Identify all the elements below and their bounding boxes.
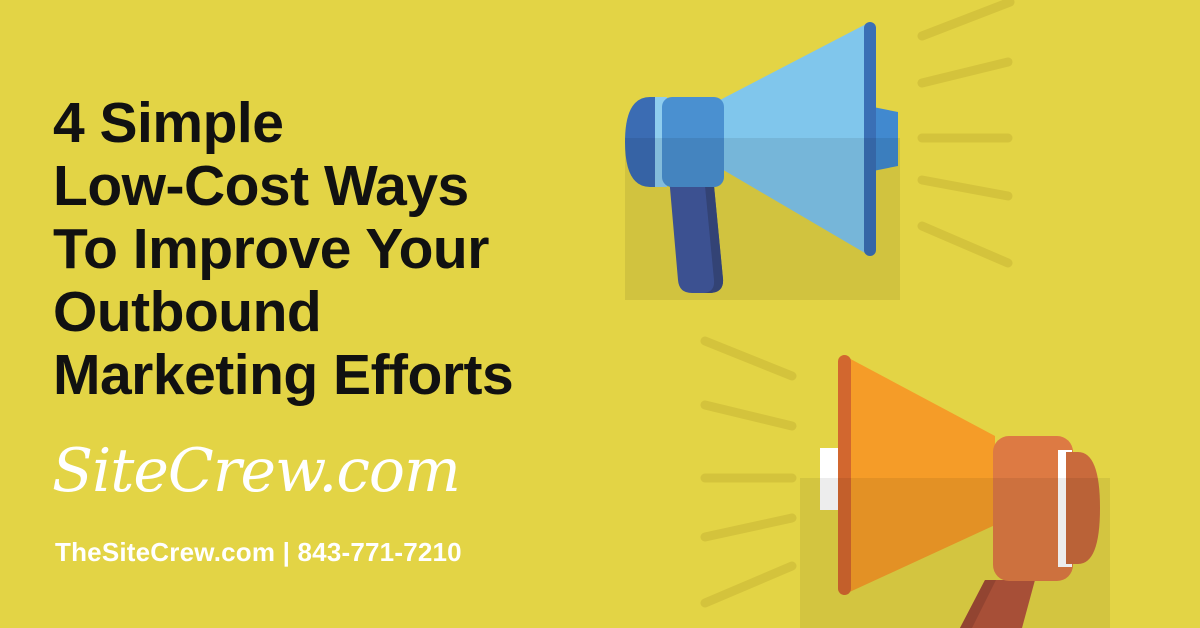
megaphone-body <box>993 436 1073 581</box>
sound-wave-line <box>922 2 1010 36</box>
page-title: 4 Simple Low-Cost Ways To Improve Your O… <box>53 92 653 407</box>
megaphone-rim-block <box>868 106 898 172</box>
marketing-banner: 4 Simple Low-Cost Ways To Improve Your O… <box>0 0 1200 628</box>
sound-wave-line <box>922 180 1008 196</box>
sound-wave-line <box>922 62 1008 83</box>
megaphone-handle <box>960 580 1035 628</box>
megaphone-back-cap <box>1066 452 1100 564</box>
megaphone-shadow-overlay <box>800 478 1110 628</box>
megaphone-rim-bar <box>838 355 851 595</box>
sound-waves-orange <box>705 341 792 603</box>
brand-contact-line: TheSiteCrew.com | 843-771-7210 <box>55 536 462 568</box>
sound-wave-line <box>705 518 792 537</box>
megaphone-rim-bar <box>864 22 876 256</box>
megaphone-body <box>662 97 724 187</box>
megaphone-handle-edge <box>960 580 996 628</box>
brand-logo-script: SiteCrew.com <box>52 436 460 506</box>
sound-wave-line <box>705 341 792 376</box>
sound-wave-line <box>705 566 792 603</box>
megaphone-cone <box>720 22 870 256</box>
megaphone-cone <box>843 355 995 595</box>
sound-wave-line <box>922 226 1008 263</box>
megaphone-handle-edge <box>703 165 723 293</box>
sound-wave-line <box>705 405 792 426</box>
megaphone-handle <box>668 165 723 293</box>
megaphone-mouth-block <box>820 448 860 510</box>
megaphone-shadow-overlay <box>625 138 900 300</box>
megaphone-cap-sliver <box>1058 450 1072 567</box>
sound-waves-blue <box>922 2 1010 263</box>
megaphone-cap-sliver <box>655 97 667 187</box>
